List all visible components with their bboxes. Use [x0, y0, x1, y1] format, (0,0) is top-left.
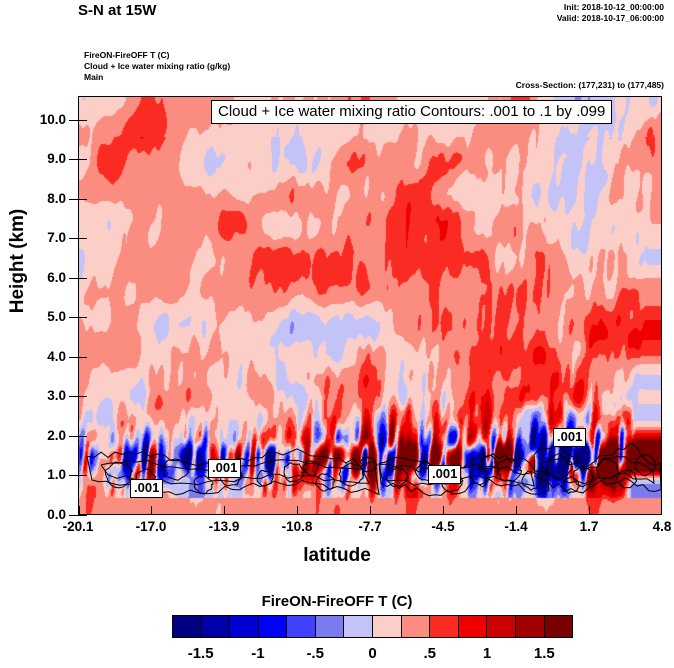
contour-banner: Cloud + Ice water mixing ratio Contours:… [211, 100, 612, 124]
colorbar-cell [173, 616, 202, 637]
colorbar-cell [259, 616, 288, 637]
y-axis-tick-inner [78, 357, 87, 358]
y-axis-tick-inner [78, 159, 87, 160]
colorbar-tick-label: 0 [343, 645, 403, 662]
colorbar-cell [487, 616, 516, 637]
y-axis-tick-inner [78, 199, 87, 200]
x-axis-tick [79, 506, 80, 515]
x-axis-tick [370, 506, 371, 515]
y-axis-tick-label: 3.0 [20, 388, 66, 403]
figure-root: S-N at 15W Init: 2018-10-12_00:00:00 Val… [0, 0, 674, 668]
x-axis-tick-label: -17.0 [121, 519, 181, 534]
y-axis-tick-label: 2.0 [20, 428, 66, 443]
y-axis-tick-label: 9.0 [20, 151, 66, 166]
y-axis-tick-inner [78, 475, 87, 476]
y-axis-tick-label: 6.0 [20, 270, 66, 285]
x-axis-tick [224, 506, 225, 515]
init-time: Init: 2018-10-12_00:00:00 [557, 2, 664, 13]
x-axis-tick-label: 4.8 [632, 519, 674, 534]
y-axis-tick [69, 317, 78, 318]
x-axis-tick [661, 506, 662, 515]
colorbar-tick-label: .5 [400, 645, 460, 662]
y-axis-tick-inner [78, 238, 87, 239]
colorbar-cell [516, 616, 545, 637]
x-axis-tick-label: -7.7 [340, 519, 400, 534]
colorbar-cell [202, 616, 231, 637]
x-axis-tick-label: -13.9 [194, 519, 254, 534]
temperature-difference-field [79, 97, 662, 515]
valid-time: Valid: 2018-10-17_06:00:00 [557, 13, 664, 24]
y-axis-title: Height (km) [7, 196, 29, 326]
x-axis-tick [589, 506, 590, 515]
colorbar-cell [287, 616, 316, 637]
y-axis-tick-label: 4.0 [20, 349, 66, 364]
colorbar-cell [373, 616, 402, 637]
x-axis-tick [297, 506, 298, 515]
y-axis-tick [69, 475, 78, 476]
y-axis-tick-label: 7.0 [20, 230, 66, 245]
colorbar-cell [230, 616, 259, 637]
page-title: S-N at 15W [78, 2, 156, 19]
y-axis-tick-label: 8.0 [20, 191, 66, 206]
y-axis-tick [69, 436, 78, 437]
contour-value-label: .001 [428, 465, 461, 484]
y-axis-tick-label: 10.0 [20, 112, 66, 127]
colorbar-cell [459, 616, 488, 637]
x-axis-tick-label: -10.8 [267, 519, 327, 534]
colorbar-cell [344, 616, 373, 637]
colorbar-cell [316, 616, 345, 637]
y-axis-tick-label: 1.0 [20, 467, 66, 482]
y-axis-tick [69, 159, 78, 160]
field-line: FireON-FireOFF T (C) [84, 50, 230, 61]
x-axis-tick [151, 506, 152, 515]
colorbar-cell [430, 616, 459, 637]
y-axis-tick [69, 396, 78, 397]
domain-line: Main [84, 72, 230, 83]
x-axis-tick-label: -20.1 [48, 519, 108, 534]
init-valid-times: Init: 2018-10-12_00:00:00 Valid: 2018-10… [557, 2, 664, 24]
y-axis-tick [69, 199, 78, 200]
colorbar-cell [545, 616, 573, 637]
x-axis-tick [443, 506, 444, 515]
cross-section-endpoints: Cross-Section: (177,231) to (177,485) [516, 80, 664, 90]
x-axis-title: latitude [0, 545, 674, 567]
colorbar [172, 615, 573, 638]
y-axis-tick [69, 357, 78, 358]
x-axis-tick-label: -1.4 [486, 519, 546, 534]
y-axis-tick-label: 5.0 [20, 309, 66, 324]
y-axis-tick [69, 515, 78, 516]
contour-value-label: .001 [553, 428, 586, 447]
x-axis-tick [516, 506, 517, 515]
y-axis-tick-inner [78, 120, 87, 121]
y-axis-tick [69, 120, 78, 121]
colorbar-title: FireON-FireOFF T (C) [0, 593, 674, 610]
x-axis-tick-label: -4.5 [413, 519, 473, 534]
y-axis-tick-inner [78, 278, 87, 279]
colorbar-tick-label: -1.5 [171, 645, 231, 662]
y-axis-tick [69, 238, 78, 239]
contour-value-label: .001 [208, 459, 241, 478]
colorbar-cell [402, 616, 431, 637]
colorbar-tick-label: -.5 [285, 645, 345, 662]
contour-value-label: .001 [130, 479, 163, 498]
x-axis-tick-label: 1.7 [559, 519, 619, 534]
overlay-line: Cloud + Ice water mixing ratio (g/kg) [84, 61, 230, 72]
colorbar-tick-label: -1 [228, 645, 288, 662]
y-axis-tick-inner [78, 317, 87, 318]
plot-area: Cloud + Ice water mixing ratio Contours:… [78, 96, 662, 515]
y-axis-tick-inner [78, 436, 87, 437]
colorbar-tick-label: 1.5 [514, 645, 574, 662]
y-axis-tick-inner [78, 396, 87, 397]
colorbar-tick-label: 1 [457, 645, 517, 662]
field-description: FireON-FireOFF T (C) Cloud + Ice water m… [84, 50, 230, 83]
y-axis-tick-inner [78, 515, 87, 516]
y-axis-tick [69, 278, 78, 279]
